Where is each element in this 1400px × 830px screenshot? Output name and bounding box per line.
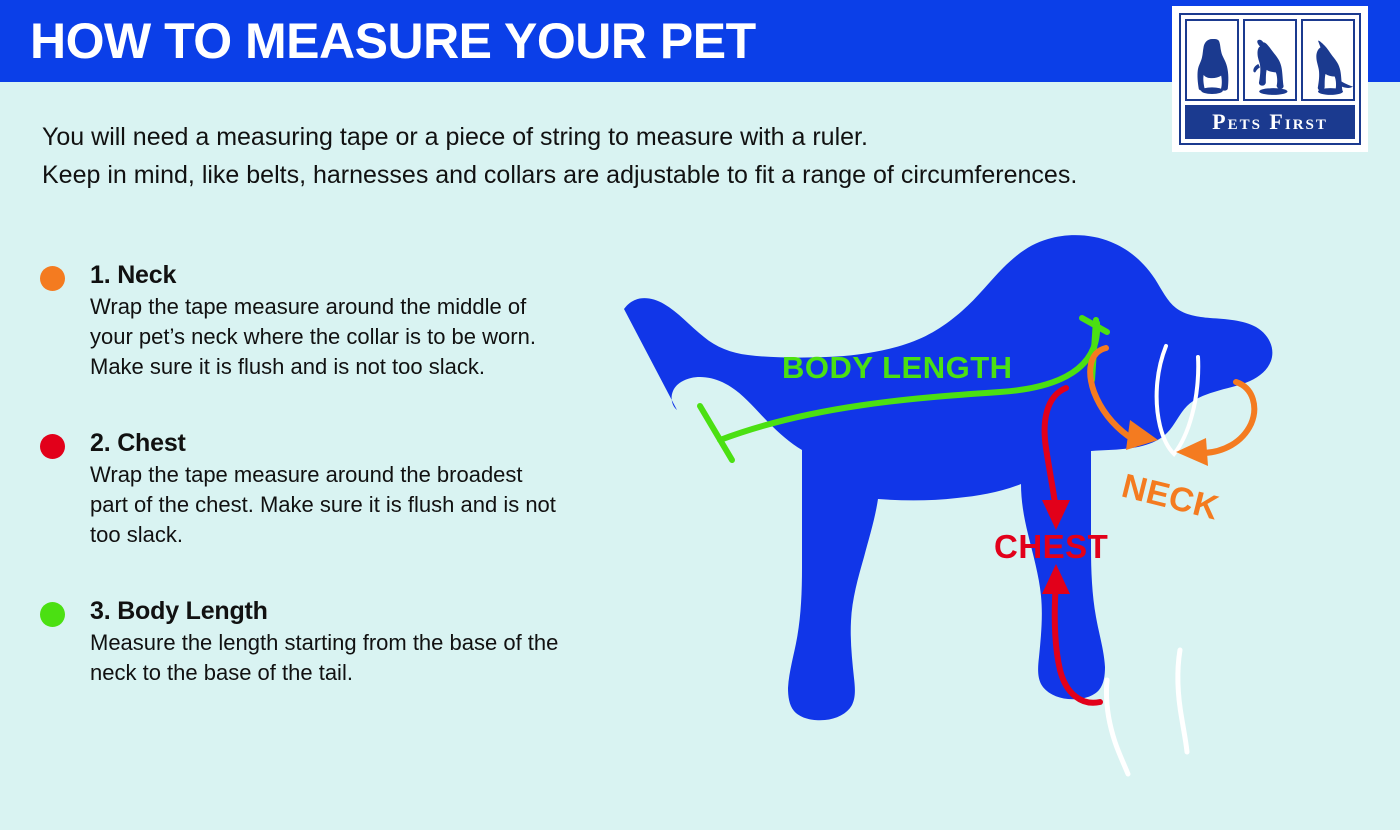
- step-body-line: your pet’s neck where the collar is to b…: [90, 322, 620, 352]
- step-body-chest: Wrap the tape measure around the broades…: [90, 460, 620, 550]
- step-body-line: Measure the length starting from the bas…: [90, 628, 620, 658]
- chest-label: CHEST: [994, 528, 1108, 565]
- step-body-line: Make sure it is flush and is not too sla…: [90, 352, 620, 382]
- sitting-dog-silhouette-icon: [1185, 19, 1239, 101]
- intro-line-1: You will need a measuring tape or a piec…: [42, 118, 1152, 156]
- step-body-line: part of the chest. Make sure it is flush…: [90, 490, 620, 520]
- list-item: 3. Body Length Measure the length starti…: [40, 594, 640, 688]
- howling-dog-silhouette-icon: [1243, 19, 1297, 101]
- front-leg-separation: [1106, 680, 1128, 774]
- logo-inner-border: Pets First: [1179, 13, 1361, 145]
- step-body-neck: Wrap the tape measure around the middle …: [90, 292, 620, 382]
- step-body-line: Wrap the tape measure around the middle …: [90, 292, 620, 322]
- step-bullet-neck: [40, 266, 65, 291]
- step-heading-chest: 2. Chest: [90, 426, 640, 460]
- body-length-label: BODY LENGTH: [782, 350, 1013, 385]
- step-heading-body-length: 3. Body Length: [90, 594, 640, 628]
- logo-frames: [1185, 19, 1355, 101]
- step-body-line: Wrap the tape measure around the broades…: [90, 460, 620, 490]
- step-bullet-chest: [40, 434, 65, 459]
- page-title: HOW TO MEASURE YOUR PET: [30, 12, 756, 70]
- list-item: 2. Chest Wrap the tape measure around th…: [40, 426, 640, 550]
- step-bullet-body-length: [40, 602, 65, 627]
- body-length-end-cap-left: [700, 406, 732, 460]
- step-heading-neck: 1. Neck: [90, 258, 640, 292]
- brand-logo[interactable]: Pets First: [1172, 6, 1368, 152]
- intro-paragraph: You will need a measuring tape or a piec…: [42, 118, 1152, 194]
- step-body-body-length: Measure the length starting from the bas…: [90, 628, 620, 688]
- intro-line-2: Keep in mind, like belts, harnesses and …: [42, 156, 1152, 194]
- rear-of-front-leg-separation: [1178, 650, 1187, 752]
- step-body-line: too slack.: [90, 520, 620, 550]
- measurement-steps-list: 1. Neck Wrap the tape measure around the…: [40, 258, 640, 716]
- step-body-line: neck to the base of the tail.: [90, 658, 620, 688]
- pet-measurement-diagram: BODY LENGTH NECK CHEST: [610, 200, 1400, 830]
- standing-dog-silhouette-icon: [1301, 19, 1355, 101]
- neck-label: NECK: [1118, 467, 1223, 528]
- dog-silhouette-icon: [624, 235, 1272, 720]
- logo-wordmark: Pets First: [1185, 105, 1355, 139]
- list-item: 1. Neck Wrap the tape measure around the…: [40, 258, 640, 382]
